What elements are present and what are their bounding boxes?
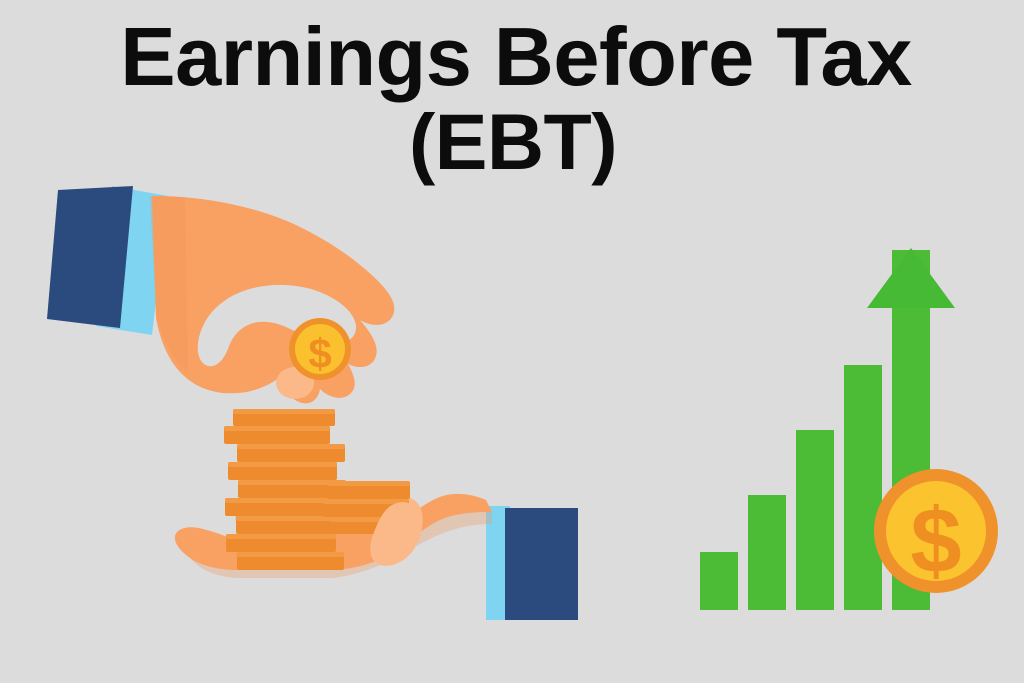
chart-bar-3 <box>796 430 834 610</box>
chart-coin-dollar-sign: $ <box>910 490 961 592</box>
chart-bar-4 <box>844 365 882 610</box>
chart-bar-2 <box>748 495 786 610</box>
growth-up-arrow-icon <box>867 248 955 308</box>
growth-chart-illustration: $ <box>0 0 1024 683</box>
chart-bar-1 <box>700 552 738 610</box>
poster-canvas: Earnings Before Tax (EBT) <box>0 0 1024 683</box>
chart-dollar-coin: $ <box>874 469 998 593</box>
